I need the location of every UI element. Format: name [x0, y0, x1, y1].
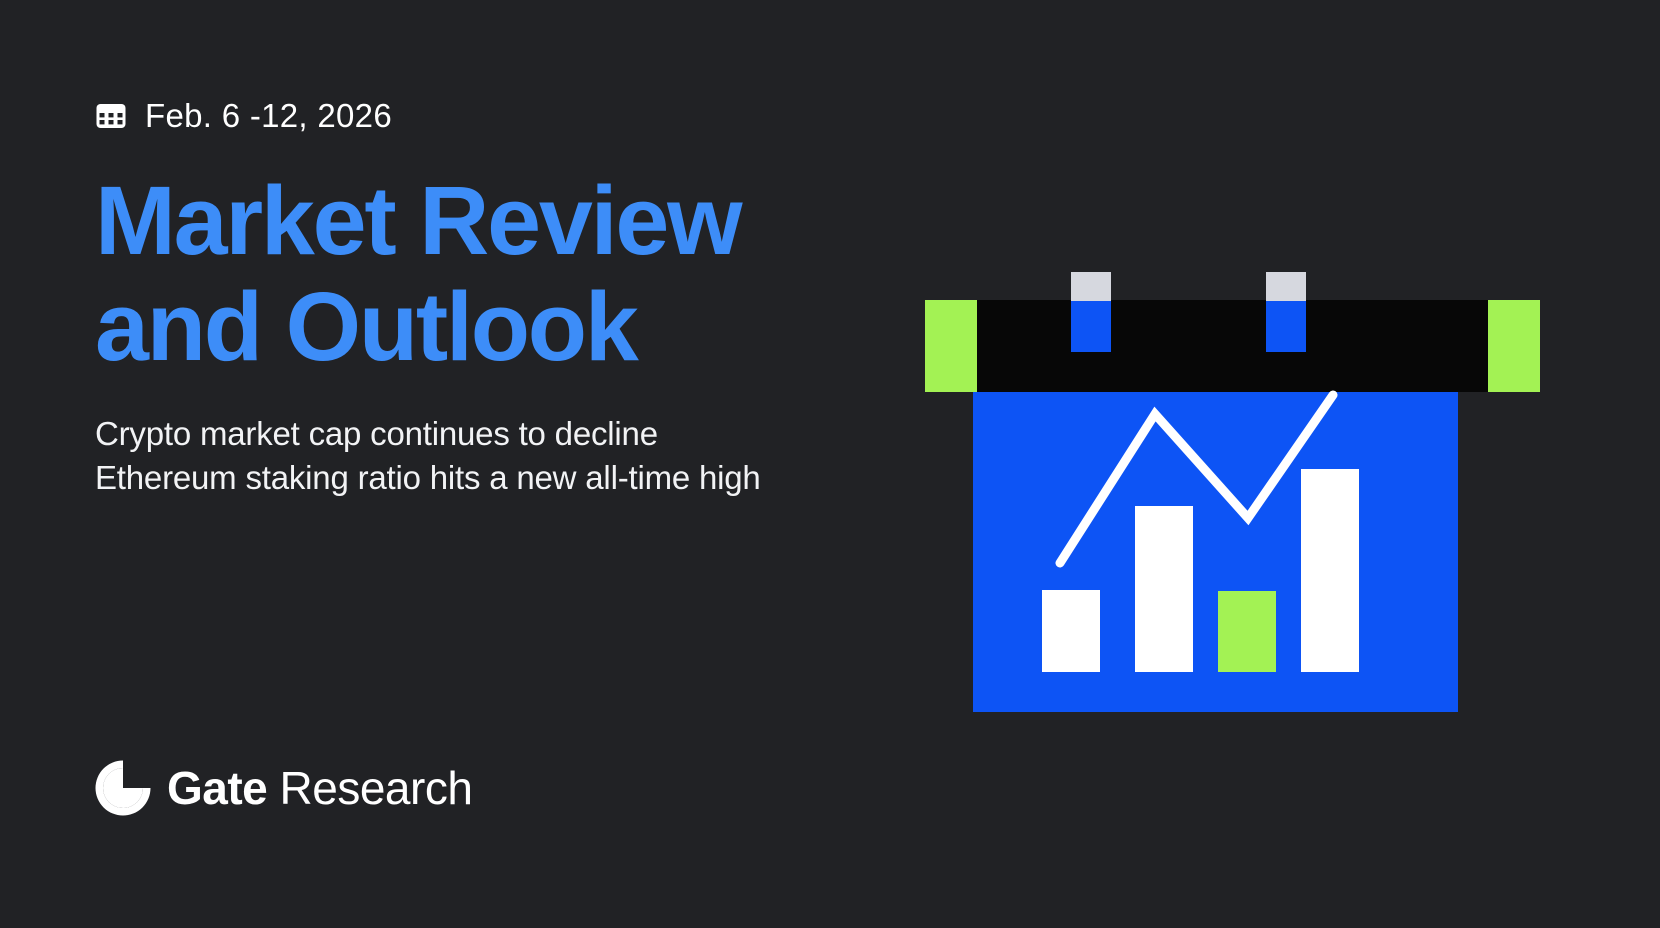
headline-line-2: and Outlook [95, 274, 875, 380]
subtitle-block: Crypto market cap continues to decline E… [95, 412, 761, 499]
chart-bar-4 [1301, 469, 1359, 672]
subtitle-line-2: Ethereum staking ratio hits a new all-ti… [95, 456, 761, 500]
date-label: Feb. 6 -12, 2026 [145, 99, 392, 132]
headline-line-1: Market Review [95, 168, 875, 274]
chart-bar-3 [1218, 591, 1276, 672]
calendar-bar-chart-illustration [925, 250, 1565, 770]
chart-bar-1 [1042, 590, 1100, 672]
page-title: Market Review and Outlook [95, 168, 875, 379]
calendar-ring-left-body [1071, 301, 1111, 352]
calendar-header-bar [977, 300, 1488, 392]
subtitle-line-1: Crypto market cap continues to decline [95, 412, 761, 456]
calendar-ring-left-top [1071, 272, 1111, 301]
calendar-tab-right [1488, 300, 1540, 392]
brand-name: Gate Research [167, 765, 472, 811]
brand-name-primary: Gate [167, 762, 267, 814]
calendar-icon [95, 100, 127, 132]
gate-logo-mark-icon [95, 760, 151, 816]
chart-bar-2 [1135, 506, 1193, 672]
left-content-column: Feb. 6 -12, 2026 Market Review and Outlo… [95, 0, 915, 928]
calendar-ring-right-top [1266, 272, 1306, 301]
calendar-ring-right-body [1266, 301, 1306, 352]
brand-name-suffix: Research [267, 762, 472, 814]
brand-lockup: Gate Research [95, 760, 472, 816]
poster-canvas: Feb. 6 -12, 2026 Market Review and Outlo… [0, 0, 1660, 928]
calendar-tab-left [925, 300, 977, 392]
date-row: Feb. 6 -12, 2026 [95, 99, 392, 132]
